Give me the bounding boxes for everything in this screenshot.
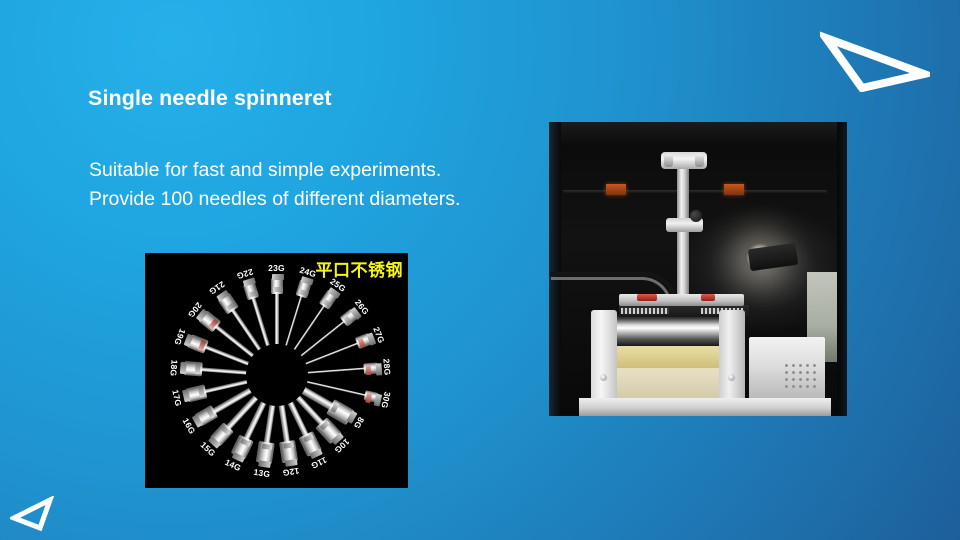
needle-hub bbox=[354, 333, 372, 349]
needle-gauge-label: 12G bbox=[282, 466, 300, 478]
needle-hub bbox=[279, 440, 298, 463]
needle-shaft bbox=[278, 404, 290, 443]
needle-assortment-image: 8G10G11G12G13G14G15G16G17G18G19G20G21G22… bbox=[145, 253, 408, 488]
chamber-ceiling bbox=[557, 122, 839, 148]
triangle-top-right-icon bbox=[820, 30, 930, 92]
chamber-right-edge bbox=[837, 122, 847, 416]
needle-hub bbox=[363, 390, 378, 403]
chamber-rail bbox=[563, 190, 827, 193]
chamber-left-edge bbox=[549, 122, 561, 416]
needle-hub bbox=[187, 335, 209, 354]
needle-array-center bbox=[246, 344, 308, 406]
triangle-bottom-left-icon bbox=[10, 496, 58, 532]
needle-hub bbox=[270, 278, 283, 294]
display-left bbox=[606, 184, 626, 195]
needle-shaft bbox=[306, 368, 365, 374]
needle-shaft bbox=[275, 292, 278, 345]
terminal-strip-left bbox=[621, 308, 669, 314]
needle-gauge-label: 23G bbox=[268, 263, 285, 273]
needle-hub bbox=[183, 361, 202, 376]
needle-gauge-label: 28G bbox=[382, 358, 393, 375]
needle-gauge-label: 30G bbox=[380, 391, 393, 409]
needle-hub bbox=[231, 435, 253, 460]
needle-hub bbox=[242, 281, 259, 301]
needle-hub bbox=[298, 431, 322, 457]
needle-hub bbox=[185, 385, 207, 403]
adjustment-knob bbox=[690, 210, 702, 222]
machine-base-plate bbox=[579, 398, 831, 416]
needle-hub bbox=[256, 442, 274, 465]
connector-red-left bbox=[637, 294, 657, 301]
needle-hub bbox=[363, 362, 378, 374]
needle-gauge-label: 13G bbox=[253, 467, 271, 479]
connector-red-right bbox=[701, 294, 715, 301]
body-line-1: Suitable for fast and simple experiments… bbox=[89, 156, 460, 185]
body-line-2: Provide 100 needles of different diamete… bbox=[89, 185, 460, 214]
needle-shaft bbox=[200, 367, 247, 375]
needle-photo-caption: 平口不锈钢 bbox=[316, 256, 404, 281]
slide-canvas: Single needle spinneret Suitable for fas… bbox=[0, 0, 960, 540]
drum-stand-left bbox=[591, 310, 617, 402]
page-title: Single needle spinneret bbox=[88, 86, 332, 111]
electrospinning-machine-image bbox=[549, 122, 847, 416]
needle-gauge-label: 18G bbox=[168, 359, 179, 376]
needle-shaft bbox=[263, 404, 275, 445]
post-clamp-top bbox=[661, 152, 707, 169]
stand-bolt-right bbox=[728, 374, 735, 381]
rotating-drum-collector bbox=[611, 314, 723, 346]
motor-vent-grille bbox=[783, 362, 819, 392]
needle-hub bbox=[295, 280, 311, 299]
stand-bolt-left bbox=[600, 374, 607, 381]
display-right bbox=[724, 184, 744, 195]
drum-stand-right bbox=[719, 310, 745, 402]
body-text: Suitable for fast and simple experiments… bbox=[89, 156, 460, 214]
